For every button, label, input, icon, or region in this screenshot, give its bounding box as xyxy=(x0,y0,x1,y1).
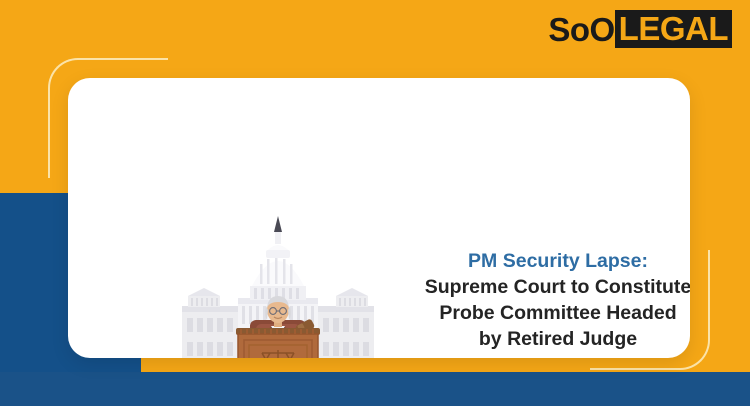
headline-line-4: by Retired Judge xyxy=(388,326,690,352)
illustration-judge-podium xyxy=(178,198,378,358)
capitol-left-wing xyxy=(182,288,244,358)
capitol-dome xyxy=(250,216,306,300)
brand-logo: SoOLEGAL xyxy=(548,10,732,48)
content-card: PM Security Lapse: Supreme Court to Cons… xyxy=(68,78,690,358)
capitol-right-wing xyxy=(312,288,374,358)
logo-text-soo: SoO xyxy=(548,13,614,46)
background-blue-strip xyxy=(0,372,750,406)
headline-line-3: Probe Committee Headed xyxy=(388,300,690,326)
headline-line-1: PM Security Lapse: xyxy=(388,248,690,274)
podium xyxy=(236,328,320,358)
logo-text-legal: LEGAL xyxy=(615,10,732,48)
poster-canvas: SoOLEGAL xyxy=(0,0,750,406)
headline-block: PM Security Lapse: Supreme Court to Cons… xyxy=(388,248,690,352)
headline-line-2: Supreme Court to Constitute xyxy=(388,274,690,300)
illustration-svg xyxy=(178,198,378,358)
